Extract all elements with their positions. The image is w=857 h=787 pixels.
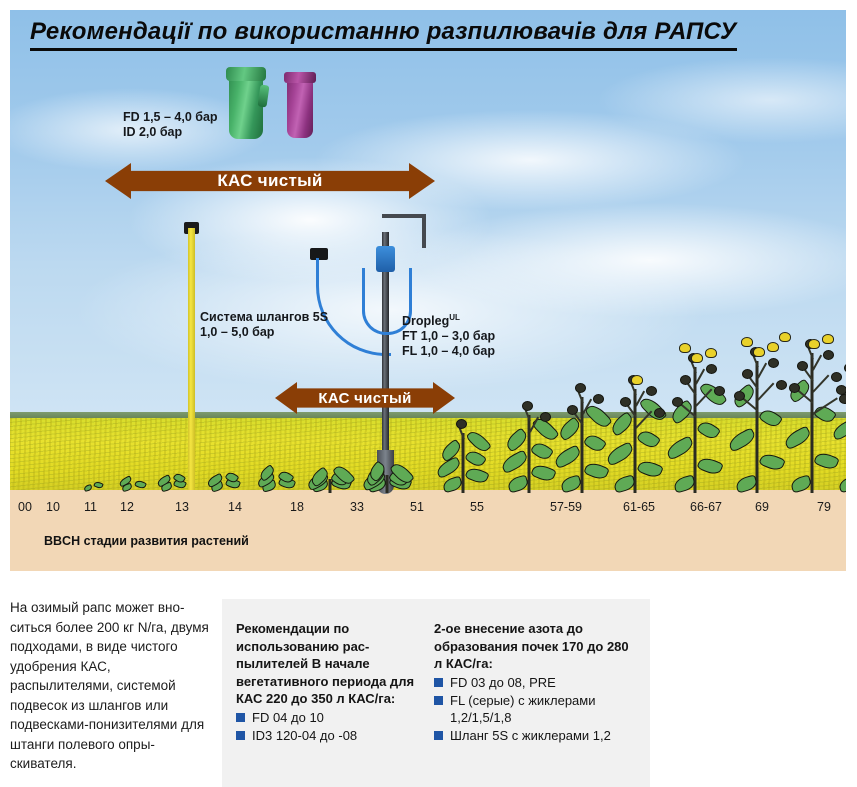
arrow-top-label: КАС чистый <box>217 171 322 191</box>
second-application-item: FL (серые) с жиклерами 1,2/1,5/1,8 <box>434 692 638 727</box>
dropleg-name: Dropleg <box>402 314 449 328</box>
nozzle-pressure-line-2: ID 2,0 бар <box>123 125 218 140</box>
plant-leaf <box>507 475 530 494</box>
plant-leaf <box>583 460 610 481</box>
bullet-square-icon <box>434 678 443 687</box>
plant-bud <box>742 369 753 379</box>
nozzle-pressure-line-1: FD 1,5 – 4,0 бар <box>123 110 218 125</box>
plant-flower <box>705 348 717 358</box>
bottom-section: На озимый рапс может вно-ситься более 20… <box>0 571 857 787</box>
plant-leaf <box>442 475 464 493</box>
plant-leaf <box>553 444 583 469</box>
plant-leaf <box>758 406 783 429</box>
yellow-lance-icon <box>188 228 195 490</box>
plant-bud <box>680 375 691 385</box>
bbch-stage-number: 79 <box>817 500 831 514</box>
plant-flower <box>822 334 834 344</box>
recommendation-list: FD 04 до 10ID3 120-04 до -08 <box>236 709 422 745</box>
plant-leaf <box>697 455 725 477</box>
page-title: Рекомендації по використанню разпилювачі… <box>30 18 737 51</box>
dropleg-line-1: FT 1,0 – 3,0 бар <box>402 329 495 344</box>
second-application-item-text: FL (серые) с жиклерами 1,2/1,5/1,8 <box>450 693 595 726</box>
bbch-stage-number: 51 <box>410 500 424 514</box>
plant-stem <box>756 361 759 493</box>
plant-leaf <box>612 474 636 493</box>
second-application-column: 2-ое внесение азота до образования почек… <box>434 620 638 745</box>
hose-system-line-1: Система шлангов 5S <box>200 310 328 325</box>
bbch-stage-number: 00 <box>18 500 32 514</box>
bbch-stage-number: 55 <box>470 500 484 514</box>
recommendation-heading: Рекомендации по использованию рас-пылите… <box>236 620 422 708</box>
dropleg-superscript: UL <box>449 313 460 322</box>
boom-riser-icon <box>422 214 426 248</box>
plant-leaf <box>727 427 758 453</box>
plant-leaf <box>583 432 607 454</box>
plant-flower <box>631 375 643 385</box>
plant-stage-13 <box>260 461 292 493</box>
plant-leaf <box>438 438 463 462</box>
plant-flower <box>741 337 753 347</box>
bbch-caption: BBCH стадии развития растений <box>44 534 249 548</box>
recommendation-column: Рекомендации по использованию рас-пылите… <box>236 620 422 745</box>
recommendation-item-text: FD 04 до 10 <box>252 710 324 725</box>
bullet-square-icon <box>236 731 245 740</box>
second-application-item-text: FD 03 до 08, PRE <box>450 675 556 690</box>
plant-bud <box>706 364 717 374</box>
nozzle-pressure-label: FD 1,5 – 4,0 бар ID 2,0 бар <box>123 110 218 140</box>
boom-bar-icon <box>382 214 426 218</box>
dropleg-title-line: DroplegUL <box>402 310 495 329</box>
plant-leaf <box>560 475 583 494</box>
plant-stage-55 <box>558 370 606 493</box>
plant-bud <box>522 401 533 411</box>
illustration-panel: FD 1,5 – 4,0 бар ID 2,0 бар Система шлан… <box>10 10 846 571</box>
plant-bud <box>620 397 631 407</box>
plant-bud <box>768 358 779 368</box>
plant-flower <box>691 353 703 363</box>
bbch-scale: 0010111213141833515557-5961-6566-676979 <box>10 500 846 524</box>
plant-stage-10 <box>122 470 143 493</box>
bbch-stage-number: 13 <box>175 500 189 514</box>
purple-nozzle-icon <box>287 72 313 138</box>
plant-leaf <box>503 427 530 452</box>
plant-branch <box>757 363 767 379</box>
recommendation-item: ID3 120-04 до -08 <box>236 727 422 745</box>
plant-stage-00 <box>84 476 100 493</box>
bbch-stage-number: 66-67 <box>690 500 722 514</box>
plant-bud <box>456 419 467 429</box>
second-application-list: FD 03 до 08, PREFL (серые) с жиклерами 1… <box>434 674 638 745</box>
dropleg-line-2: FL 1,0 – 4,0 бар <box>402 344 495 359</box>
recommendation-panel: Рекомендации по использованию рас-пылите… <box>222 599 650 787</box>
hose-system-label: Система шлангов 5S 1,0 – 5,0 бар <box>200 310 328 340</box>
plant-stem <box>694 367 697 493</box>
plant-stage-79 <box>836 329 846 493</box>
plant-leaf <box>500 450 530 475</box>
bbch-stage-number: 11 <box>84 500 97 514</box>
plant-leaf <box>838 475 846 493</box>
plant-leaf <box>783 425 813 450</box>
plant-leaf <box>636 428 661 451</box>
plant-branch <box>695 369 705 385</box>
plant-leaf <box>530 439 554 461</box>
bbch-stage-number: 12 <box>120 500 134 514</box>
plant-leaf <box>759 451 787 473</box>
plant-leaf <box>734 474 758 493</box>
bullet-square-icon <box>434 696 443 705</box>
bullet-square-icon <box>434 731 443 740</box>
green-nozzle-icon <box>229 67 263 139</box>
bbch-stage-number: 57-59 <box>550 500 582 514</box>
second-application-item: FD 03 до 08, PRE <box>434 674 638 692</box>
recommendation-item-text: ID3 120-04 до -08 <box>252 728 357 743</box>
plant-bud <box>575 383 586 393</box>
plant-branch <box>812 355 822 371</box>
plant-stage-51 <box>505 388 553 493</box>
bbch-stage-number: 61-65 <box>623 500 655 514</box>
bbch-stage-number: 18 <box>290 500 304 514</box>
bullet-square-icon <box>236 713 245 722</box>
plant-branch <box>758 382 775 400</box>
bbch-stage-number: 33 <box>350 500 364 514</box>
plant-bud <box>646 386 657 396</box>
plant-stage-12 <box>210 465 238 493</box>
plant-stage-11 <box>160 468 183 493</box>
plant-stage-66-67 <box>732 333 783 493</box>
plant-bud <box>844 363 846 373</box>
second-application-item: Шланг 5S с жиклерами 1,2 <box>434 727 638 745</box>
plant-leaf <box>530 462 557 483</box>
plant-stage-69 <box>788 326 836 493</box>
plant-stem <box>462 433 465 493</box>
arrow-kas-middle: КАС чистый <box>275 382 455 414</box>
plant-leaf <box>665 435 696 461</box>
bbch-stage-number: 69 <box>755 500 769 514</box>
plant-branch <box>636 410 653 428</box>
plant-stage-14 <box>310 456 349 493</box>
plant-stage-33 <box>440 407 486 493</box>
recommendation-item: FD 04 до 10 <box>236 709 422 727</box>
dropleg-label: DroplegUL FT 1,0 – 3,0 бар FL 1,0 – 4,0 … <box>402 310 495 359</box>
plant-flower <box>753 347 765 357</box>
plant-leaf <box>637 458 665 480</box>
plant-flower <box>808 339 820 349</box>
plant-stem <box>811 353 814 493</box>
plant-leaf <box>790 475 813 494</box>
plant-leaf <box>608 411 636 438</box>
plant-branch <box>812 374 829 392</box>
plant-bud <box>823 350 834 360</box>
bbch-stage-number: 14 <box>228 500 242 514</box>
plant-leaf <box>696 418 721 441</box>
hose-system-line-2: 1,0 – 5,0 бар <box>200 325 328 340</box>
plant-stage-18 <box>365 450 409 493</box>
plant-stage-61-65 <box>670 339 721 493</box>
second-application-heading: 2-ое внесение азота до образования почек… <box>434 620 638 673</box>
arrow-kas-top: КАС чистый <box>105 163 435 199</box>
plant-stem <box>528 415 531 493</box>
plant-bud <box>540 412 551 422</box>
plant-leaf <box>672 474 696 493</box>
plant-leaf <box>83 484 92 492</box>
bbch-stage-number: 10 <box>46 500 60 514</box>
plant-bud <box>593 394 604 404</box>
plant-leaf <box>605 441 636 467</box>
plant-bud <box>836 385 846 395</box>
plant-stage-57-59 <box>610 361 661 493</box>
arrow-middle-label: КАС чистый <box>318 390 411 407</box>
plant-flower <box>767 342 779 352</box>
second-application-item-text: Шланг 5S с жиклерами 1,2 <box>450 728 611 743</box>
plant-flower <box>679 343 691 353</box>
intro-paragraph: На озимый рапс может вно-ситься более 20… <box>10 598 215 774</box>
